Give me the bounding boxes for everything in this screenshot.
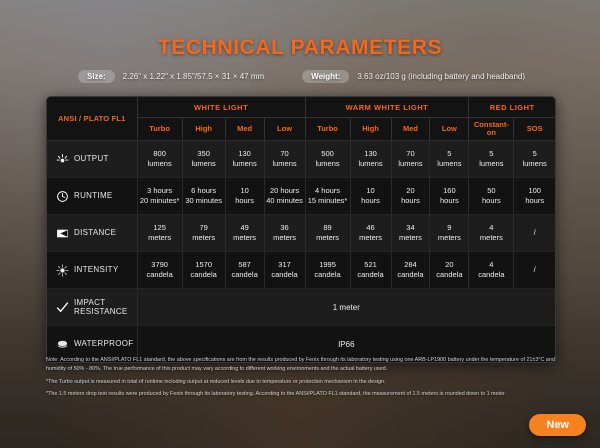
- mode-red-constant-on: Constant-on: [469, 118, 514, 141]
- cell: 1570candela: [182, 252, 225, 289]
- cell: 36meters: [264, 215, 305, 252]
- cell: 130lumens: [350, 141, 391, 178]
- row-label-intensity: INTENSITY: [47, 252, 137, 289]
- cell: 20 hours40 minutes: [264, 178, 305, 215]
- crosshair-icon: [56, 264, 69, 277]
- footnote-drop-test: *The 1.5 meters drop test results were p…: [46, 390, 558, 399]
- cell: 500lumens: [305, 141, 350, 178]
- weight-value: 3.63 oz/103 g (including battery and hea…: [357, 72, 525, 81]
- row-label-text: IMPACTRESISTANCE: [74, 298, 128, 316]
- weight-label: Weight:: [302, 70, 349, 83]
- cell: 49meters: [225, 215, 264, 252]
- table-row: IMPACTRESISTANCE 1 meter: [47, 289, 555, 326]
- cell: 89meters: [305, 215, 350, 252]
- cell: 3790candela: [137, 252, 182, 289]
- mode-white-low: Low: [264, 118, 305, 141]
- mode-white-med: Med: [225, 118, 264, 141]
- footnote-turbo: *The Turbo output is measured in total o…: [46, 378, 558, 387]
- group-warm-white-light: WARM WHITE LIGHT: [305, 97, 469, 118]
- table-row: DISTANCE 125meters 79meters 49meters 36m…: [47, 215, 555, 252]
- cell: 50hours: [469, 178, 514, 215]
- row-label-impact-resistance: IMPACTRESISTANCE: [47, 289, 137, 326]
- spec-chips: Size: 2.26" x 1.22" x 1.85"/57.5 × 31 × …: [78, 70, 580, 83]
- cell: 10hours: [350, 178, 391, 215]
- cell: 6 hours30 minutes: [182, 178, 225, 215]
- table-row: RUNTIME 3 hours20 minutes* 6 hours30 min…: [47, 178, 555, 215]
- row-label-text: OUTPUT: [74, 154, 109, 163]
- cell: 800lumens: [137, 141, 182, 178]
- cell: 317candela: [264, 252, 305, 289]
- cell: 5lumens: [430, 141, 469, 178]
- footnotes: Note: According to the ANSI/PLATO FL1 st…: [46, 356, 558, 403]
- cell: 20hours: [391, 178, 430, 215]
- weight-chip-group: Weight: 3.63 oz/103 g (including battery…: [302, 70, 525, 83]
- header-group-row: ANSI / PLATO FL1 WHITE LIGHT WARM WHITE …: [47, 97, 555, 118]
- table-row: INTENSITY 3790candela 1570candela 587can…: [47, 252, 555, 289]
- row-label-runtime: RUNTIME: [47, 178, 137, 215]
- row-label-text: RUNTIME: [74, 191, 113, 200]
- check-icon: [56, 301, 69, 314]
- cell: 70lumens: [264, 141, 305, 178]
- mode-warm-high: High: [350, 118, 391, 141]
- cell: 100hours: [514, 178, 555, 215]
- cell: 70lumens: [391, 141, 430, 178]
- cell: 10hours: [225, 178, 264, 215]
- group-white-light: WHITE LIGHT: [137, 97, 305, 118]
- group-red-light: RED LIGHT: [469, 97, 555, 118]
- footnote-standard: Note: According to the ANSI/PLATO FL1 st…: [46, 356, 558, 374]
- cell: /: [514, 252, 555, 289]
- cell: 3 hours20 minutes*: [137, 178, 182, 215]
- cell: 9meters: [430, 215, 469, 252]
- cell: 130lumens: [225, 141, 264, 178]
- size-value: 2.26" x 1.22" x 1.85"/57.5 × 31 × 47 mm: [123, 72, 265, 81]
- cell: 284candela: [391, 252, 430, 289]
- row-label-output: OUTPUT: [47, 141, 137, 178]
- mode-warm-low: Low: [430, 118, 469, 141]
- cell: 587candela: [225, 252, 264, 289]
- spec-table: ANSI / PLATO FL1 WHITE LIGHT WARM WHITE …: [47, 97, 555, 362]
- cell: 46meters: [350, 215, 391, 252]
- technical-parameters-table: ANSI / PLATO FL1 WHITE LIGHT WARM WHITE …: [46, 96, 556, 363]
- row-label-text: INTENSITY: [74, 265, 118, 274]
- mode-warm-turbo: Turbo: [305, 118, 350, 141]
- row-label-text: WATERPROOF: [74, 339, 133, 348]
- cell: 125meters: [137, 215, 182, 252]
- mode-white-turbo: Turbo: [137, 118, 182, 141]
- table-row: OUTPUT 800lumens 350lumens 130lumens 70l…: [47, 141, 555, 178]
- clock-icon: [56, 190, 69, 203]
- page-title: TECHNICAL PARAMETERS: [0, 36, 600, 60]
- row-label-text: DISTANCE: [74, 228, 116, 237]
- cell: 4 hours15 minutes*: [305, 178, 350, 215]
- cell: 350lumens: [182, 141, 225, 178]
- cell: 160hours: [430, 178, 469, 215]
- size-label: Size:: [78, 70, 115, 83]
- cell: 34meters: [391, 215, 430, 252]
- mode-red-sos: SOS: [514, 118, 555, 141]
- cell: /: [514, 215, 555, 252]
- cell: 4meters: [469, 215, 514, 252]
- cell: 1995candela: [305, 252, 350, 289]
- mode-warm-med: Med: [391, 118, 430, 141]
- waterproof-icon: [56, 338, 69, 351]
- mode-white-high: High: [182, 118, 225, 141]
- beam-icon: [56, 227, 69, 240]
- row-label-distance: DISTANCE: [47, 215, 137, 252]
- corner-label: ANSI / PLATO FL1: [47, 97, 137, 141]
- cell: 79meters: [182, 215, 225, 252]
- cell: 20candela: [430, 252, 469, 289]
- cell: 4candela: [469, 252, 514, 289]
- size-chip-group: Size: 2.26" x 1.22" x 1.85"/57.5 × 31 × …: [78, 70, 264, 83]
- cell: 521candela: [350, 252, 391, 289]
- cell: 5lumens: [514, 141, 555, 178]
- cell: 5lumens: [469, 141, 514, 178]
- new-badge-button[interactable]: New: [529, 414, 586, 436]
- sunburst-icon: [56, 153, 69, 166]
- impact-resistance-value: 1 meter: [137, 289, 555, 326]
